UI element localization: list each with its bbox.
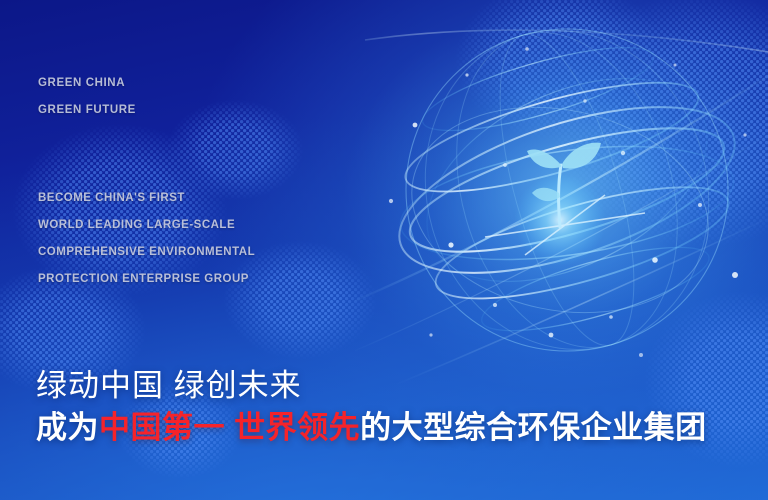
slogan-line-1: GREEN CHINA	[38, 70, 136, 97]
english-mission-statement: BECOME CHINA'S FIRST WORLD LEADING LARGE…	[38, 185, 255, 293]
green-china-banner: GREEN CHINA GREEN FUTURE BECOME CHINA'S …	[0, 0, 768, 500]
wireframe-globe-graphic	[355, 5, 768, 385]
headline-suffix: 的大型综合环保企业集团	[360, 410, 707, 445]
headline-highlight: 中国第一 世界领先	[99, 410, 360, 445]
slogan-line-2: GREEN FUTURE	[38, 97, 136, 124]
mission-line-4: PROTECTION ENTERPRISE GROUP	[38, 266, 255, 293]
headline-prefix: 成为	[36, 410, 99, 445]
english-slogan-top: GREEN CHINA GREEN FUTURE	[38, 70, 136, 124]
mission-line-2: WORLD LEADING LARGE-SCALE	[38, 212, 255, 239]
headline-line-1: 绿动中国 绿创未来	[36, 366, 766, 406]
mission-line-1: BECOME CHINA'S FIRST	[38, 185, 255, 212]
chinese-headline: 绿动中国 绿创未来 成为中国第一 世界领先的大型综合环保企业集团	[36, 366, 766, 450]
headline-line-2: 成为中国第一 世界领先的大型综合环保企业集团	[36, 406, 766, 450]
mission-line-3: COMPREHENSIVE ENVIRONMENTAL	[38, 239, 255, 266]
